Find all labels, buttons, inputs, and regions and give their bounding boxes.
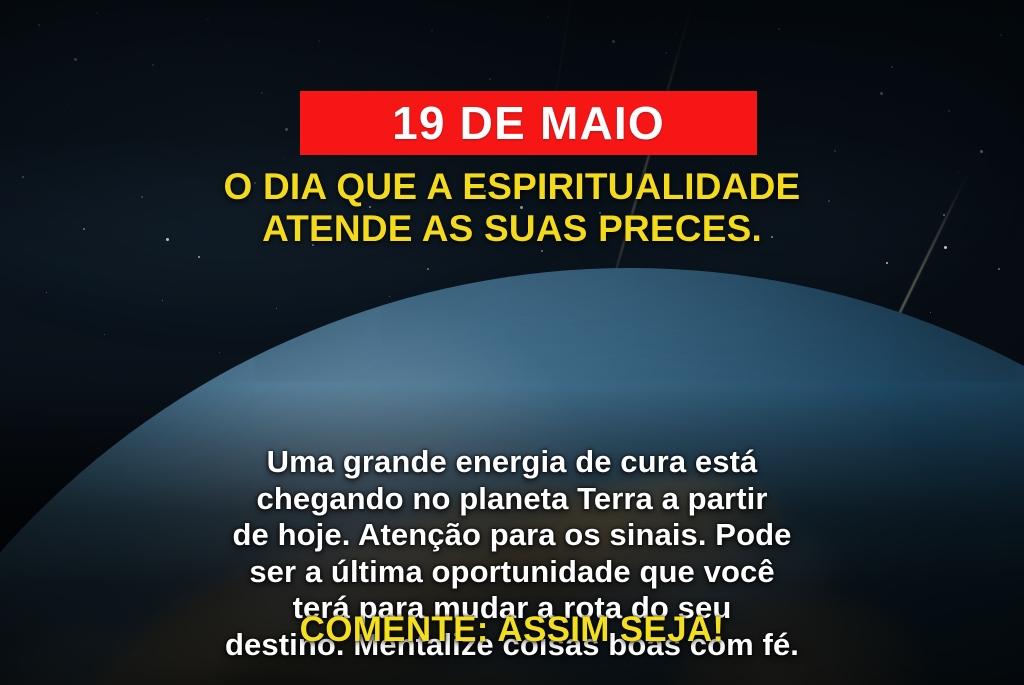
headline-line-1: O DIA QUE A ESPIRITUALIDADE bbox=[44, 166, 980, 208]
cta-text: COMENTE: ASSIM SEJA! bbox=[300, 610, 725, 649]
poster-canvas: 19 DE MAIO O DIA QUE A ESPIRITUALIDADE A… bbox=[0, 0, 1024, 685]
date-banner: 19 DE MAIO bbox=[300, 91, 757, 155]
poster-content: 19 DE MAIO O DIA QUE A ESPIRITUALIDADE A… bbox=[0, 0, 1024, 685]
call-to-action: COMENTE: ASSIM SEJA! bbox=[0, 612, 1024, 647]
body-line-1: Uma grande energia de cura está bbox=[50, 444, 974, 481]
date-banner-text: 19 DE MAIO bbox=[392, 100, 665, 146]
body-line-3: de hoje. Atenção para os sinais. Pode bbox=[50, 517, 974, 554]
headline-line-2: ATENDE AS SUAS PRECES. bbox=[44, 208, 980, 250]
body-line-2: chegando no planeta Terra a partir bbox=[50, 481, 974, 518]
headline: O DIA QUE A ESPIRITUALIDADE ATENDE AS SU… bbox=[0, 166, 1024, 250]
body-line-4: ser a última oportunidade que você bbox=[50, 554, 974, 591]
